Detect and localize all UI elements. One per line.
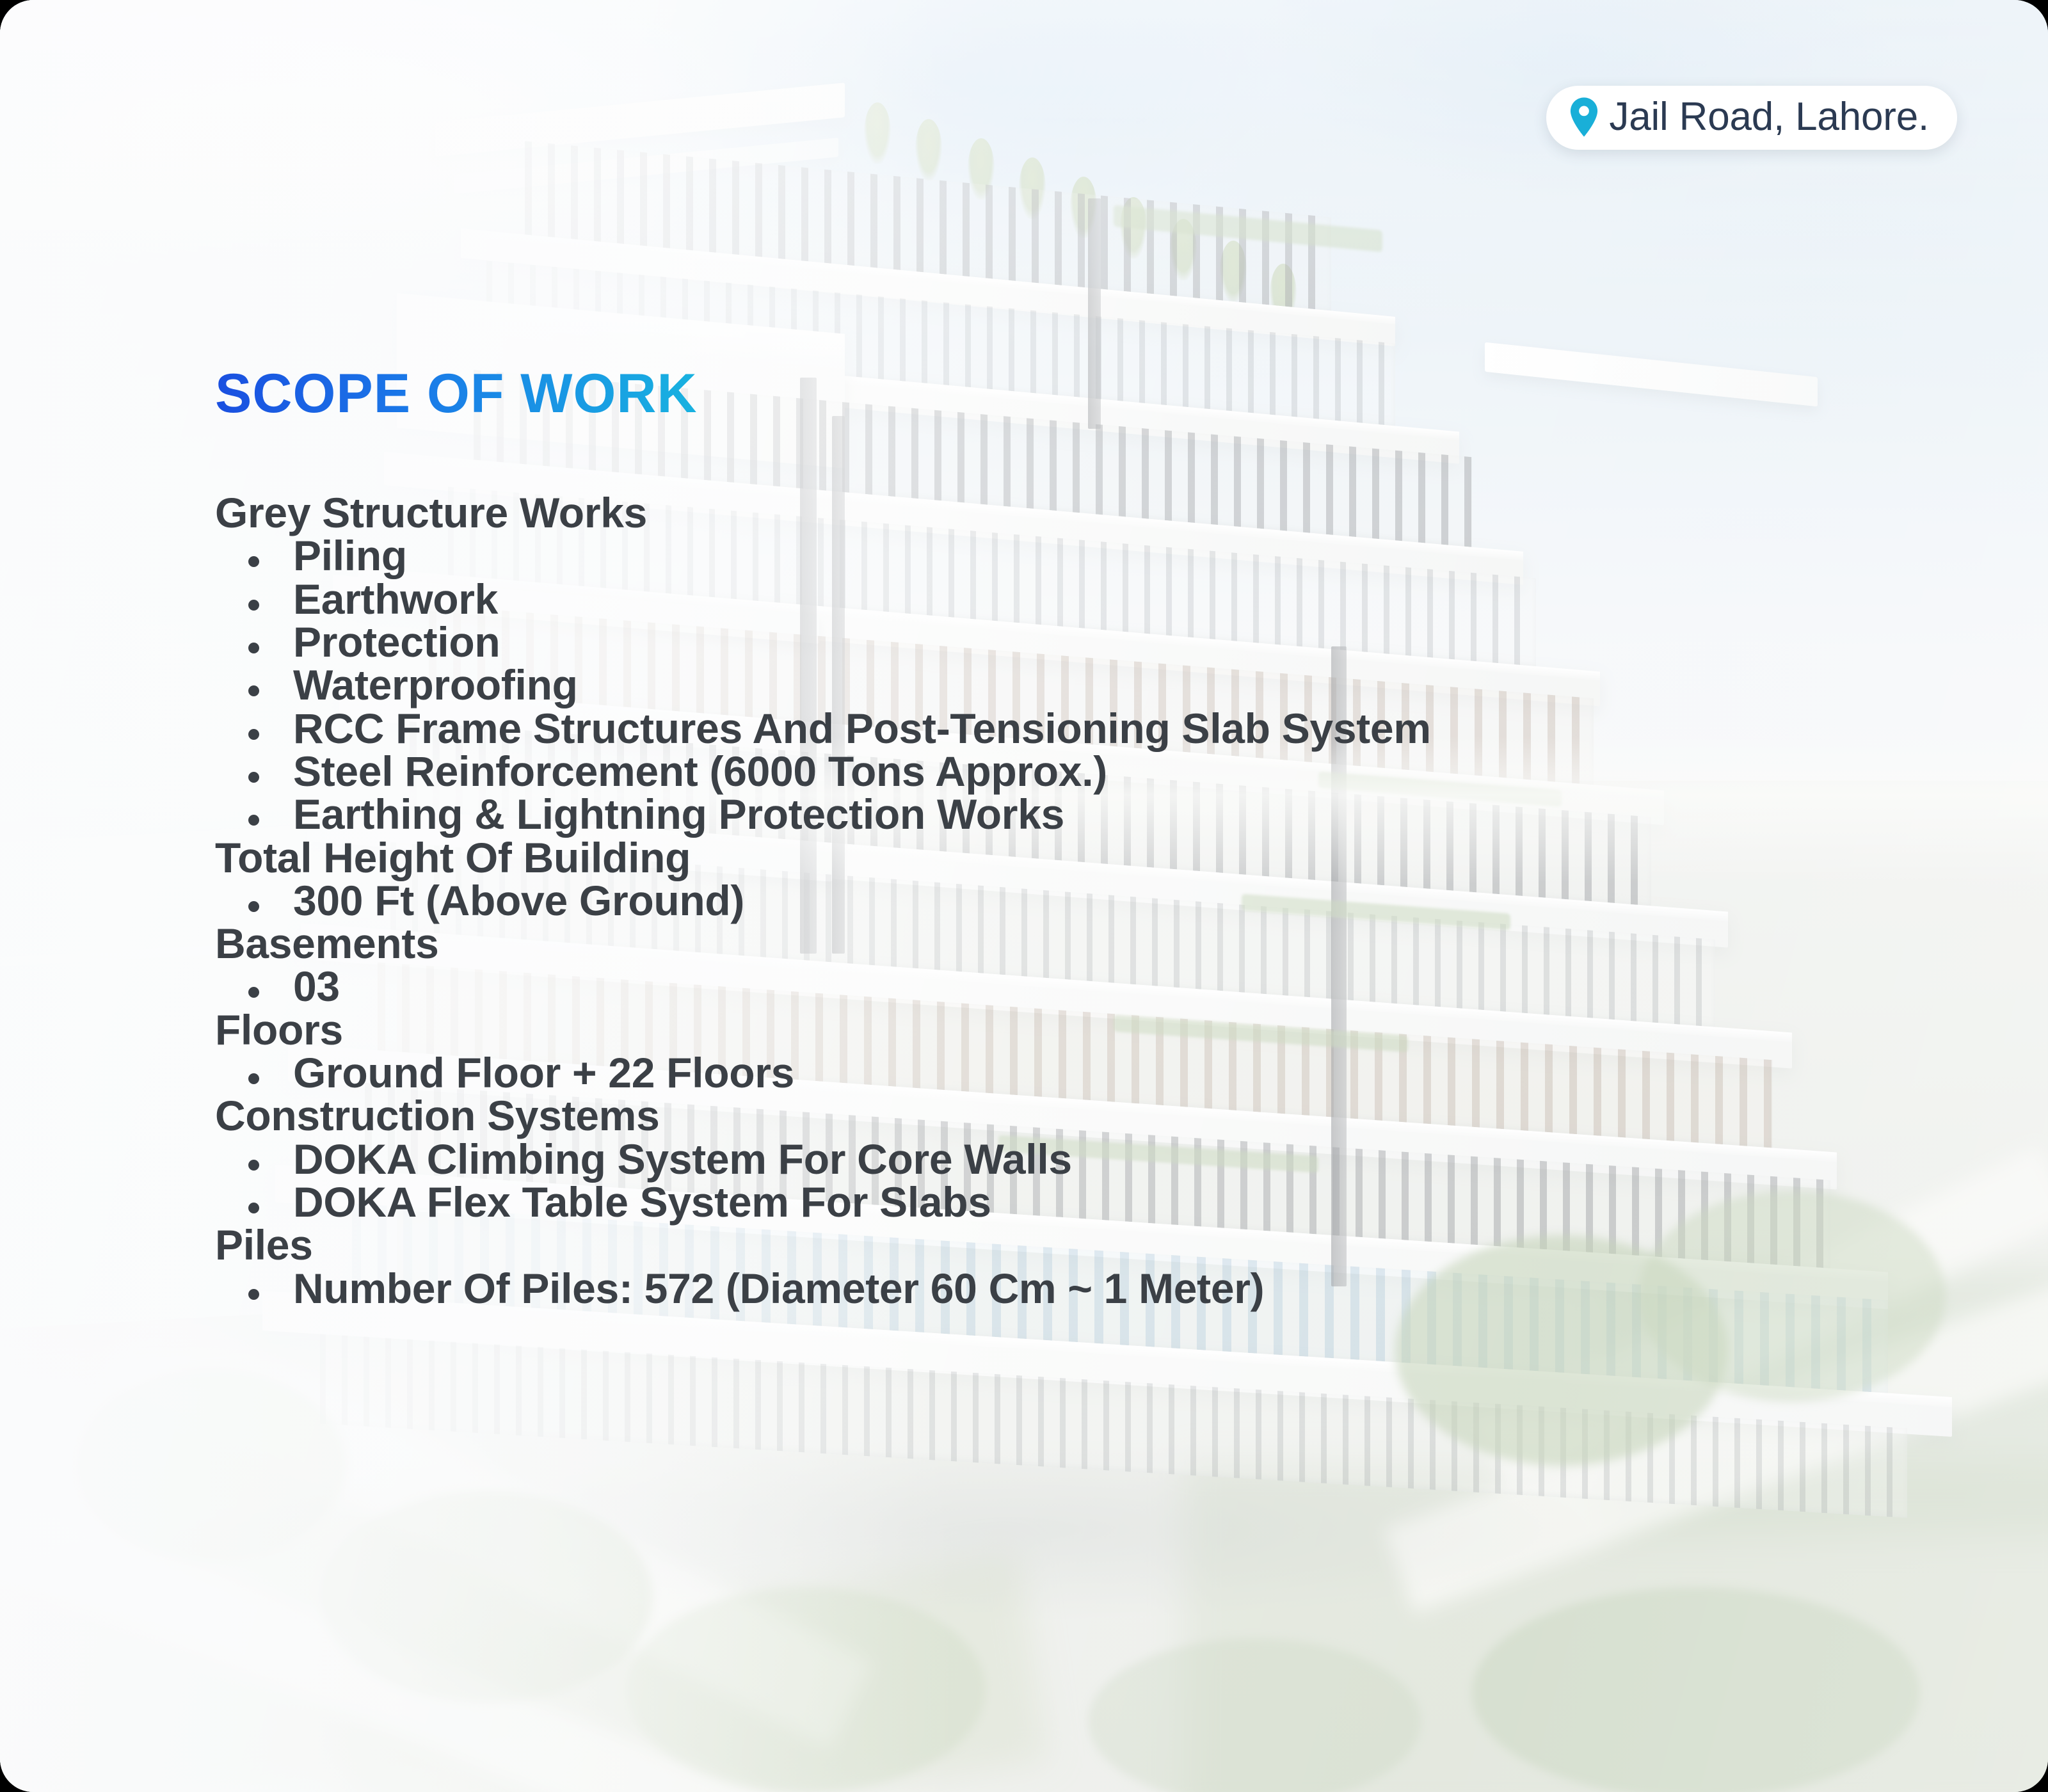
list-item: Protection: [215, 621, 1751, 664]
scope-list: Grey Structure Works Piling Earthwork Pr…: [215, 492, 1751, 1310]
list-item: Earthwork: [215, 578, 1751, 621]
scope-group: Floors Ground Floor + 22 Floors: [215, 1009, 1751, 1095]
group-heading: Floors: [215, 1009, 1751, 1052]
list-item: Earthing & Lightning Protection Works: [215, 793, 1751, 836]
group-heading: Basements: [215, 922, 1751, 965]
list-item: Ground Floor + 22 Floors: [215, 1052, 1751, 1094]
list-item: 03: [215, 965, 1751, 1008]
group-items: 300 Ft (Above Ground): [215, 879, 1751, 922]
group-items: Ground Floor + 22 Floors: [215, 1052, 1751, 1094]
map-pin-icon: [1569, 97, 1599, 137]
list-item: Piling: [215, 534, 1751, 577]
page-title: SCOPE OF WORK: [215, 366, 698, 421]
location-badge[interactable]: Jail Road, Lahore.: [1546, 86, 1957, 150]
list-item: Number Of Piles: 572 (Diameter 60 Cm ~ 1…: [215, 1267, 1751, 1310]
list-item: DOKA Flex Table System For Slabs: [215, 1181, 1751, 1224]
list-item: Steel Reinforcement (6000 Tons Approx.): [215, 750, 1751, 793]
list-item: DOKA Climbing System For Core Walls: [215, 1138, 1751, 1181]
location-label: Jail Road, Lahore.: [1609, 97, 1929, 137]
group-heading: Piles: [215, 1224, 1751, 1267]
list-item: 300 Ft (Above Ground): [215, 879, 1751, 922]
scope-group: Construction Systems DOKA Climbing Syste…: [215, 1094, 1751, 1224]
group-items: DOKA Climbing System For Core Walls DOKA…: [215, 1138, 1751, 1224]
scope-group: Basements 03: [215, 922, 1751, 1009]
scope-group: Grey Structure Works Piling Earthwork Pr…: [215, 492, 1751, 836]
scope-group: Total Height Of Building 300 Ft (Above G…: [215, 836, 1751, 923]
scope-group: Piles Number Of Piles: 572 (Diameter 60 …: [215, 1224, 1751, 1310]
scope-of-work-card: Jail Road, Lahore. SCOPE OF WORK Grey St…: [0, 0, 2048, 1792]
group-items: Piling Earthwork Protection Waterproofin…: [215, 534, 1751, 836]
card-content: Jail Road, Lahore. SCOPE OF WORK Grey St…: [0, 0, 2048, 1792]
list-item: Waterproofing: [215, 664, 1751, 707]
group-heading: Construction Systems: [215, 1094, 1751, 1137]
group-heading: Total Height Of Building: [215, 836, 1751, 879]
group-items: 03: [215, 965, 1751, 1008]
list-item: RCC Frame Structures And Post-Tensioning…: [215, 707, 1751, 750]
group-heading: Grey Structure Works: [215, 492, 1751, 534]
group-items: Number Of Piles: 572 (Diameter 60 Cm ~ 1…: [215, 1267, 1751, 1310]
